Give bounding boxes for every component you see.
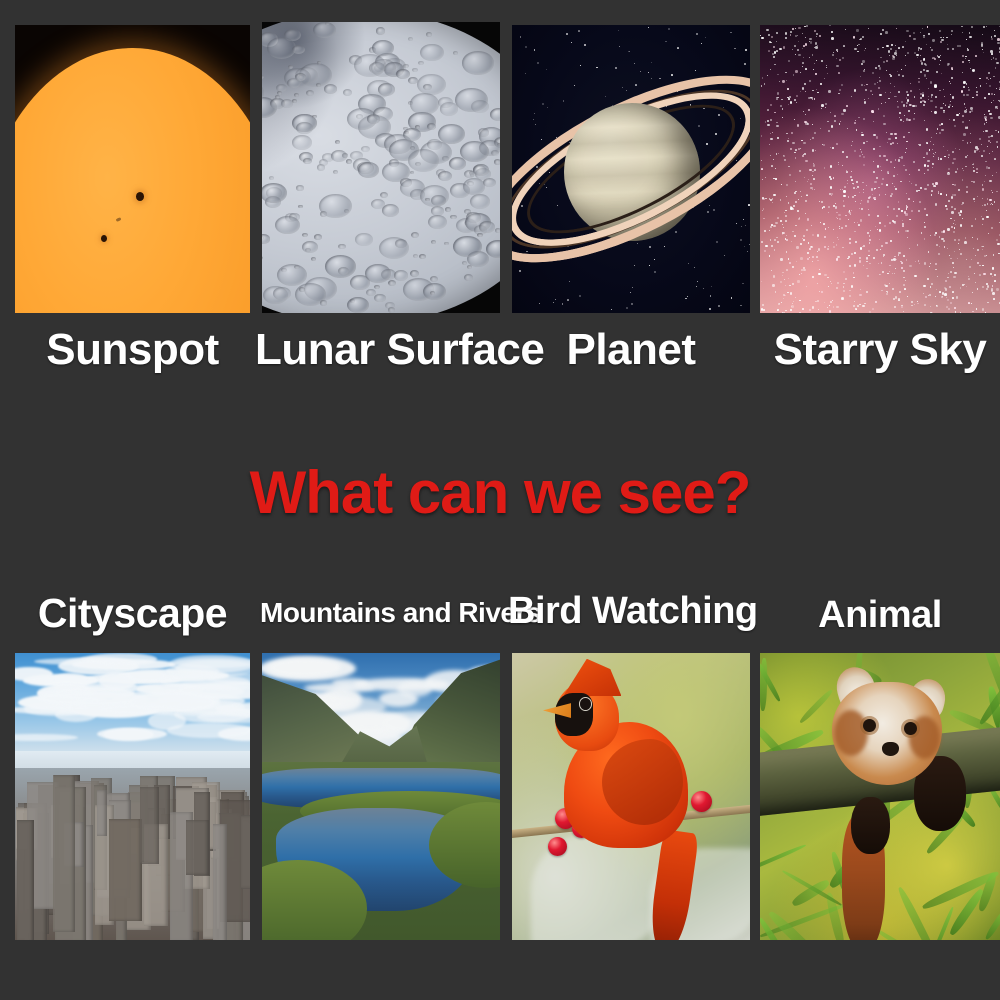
star	[955, 148, 956, 149]
star	[814, 30, 815, 31]
star	[994, 274, 996, 276]
building	[241, 815, 250, 889]
moon-crater	[388, 307, 396, 313]
star	[877, 215, 879, 217]
star	[806, 25, 808, 27]
star	[782, 275, 783, 276]
star	[982, 188, 984, 190]
star	[920, 187, 922, 189]
star	[783, 294, 785, 296]
star	[812, 137, 814, 139]
star	[851, 253, 853, 255]
star	[809, 38, 811, 40]
star	[975, 55, 977, 57]
star	[986, 255, 987, 256]
star	[934, 111, 936, 113]
star	[907, 296, 908, 297]
star	[855, 120, 856, 121]
star	[938, 193, 939, 194]
star	[875, 67, 877, 69]
star	[898, 201, 900, 203]
star	[935, 182, 937, 184]
star	[994, 158, 996, 160]
moon-crater	[464, 274, 474, 281]
star	[950, 258, 951, 259]
star	[866, 185, 867, 186]
star	[964, 110, 966, 112]
star	[954, 220, 955, 221]
star	[947, 44, 948, 45]
star	[930, 235, 931, 236]
star	[906, 105, 908, 107]
star	[820, 222, 821, 223]
star	[853, 305, 855, 307]
star	[872, 94, 873, 95]
star	[906, 193, 907, 194]
star	[944, 156, 946, 158]
star	[963, 170, 964, 171]
star	[876, 249, 878, 251]
star	[955, 224, 956, 225]
star	[917, 244, 918, 245]
star	[843, 45, 845, 47]
star	[969, 120, 970, 121]
sun-disc	[15, 48, 250, 313]
star	[792, 28, 794, 30]
star	[783, 298, 784, 299]
star	[840, 189, 841, 190]
star	[866, 257, 869, 260]
star	[853, 277, 855, 279]
star	[891, 44, 892, 45]
star	[789, 174, 791, 176]
star	[866, 84, 868, 86]
star	[828, 90, 830, 92]
star	[762, 304, 764, 306]
star	[813, 178, 815, 180]
star	[776, 122, 778, 124]
star	[940, 55, 941, 56]
star	[992, 267, 994, 269]
star	[827, 248, 829, 250]
star	[937, 276, 938, 277]
star	[793, 205, 795, 207]
moon-crater	[473, 164, 489, 176]
star	[918, 169, 920, 171]
star	[913, 201, 914, 202]
star	[828, 130, 830, 132]
star	[868, 250, 870, 252]
star	[934, 58, 936, 60]
star	[930, 141, 931, 142]
star	[931, 96, 932, 97]
star	[800, 257, 803, 260]
star	[991, 102, 992, 103]
moon-crater	[372, 40, 394, 56]
star	[994, 280, 996, 282]
star	[968, 302, 970, 304]
star	[937, 128, 938, 129]
star	[800, 191, 801, 192]
cityscape-scene	[15, 653, 250, 940]
star	[954, 208, 956, 210]
star	[830, 178, 832, 180]
star	[824, 78, 825, 79]
star	[816, 60, 817, 61]
star	[775, 222, 777, 224]
star	[775, 291, 777, 293]
star	[963, 133, 966, 136]
star	[905, 152, 906, 153]
star	[898, 298, 901, 301]
star	[915, 105, 917, 107]
star	[870, 90, 872, 92]
star	[886, 60, 888, 62]
star	[983, 273, 985, 275]
star	[821, 108, 822, 109]
star	[914, 113, 915, 114]
star	[985, 175, 986, 176]
star	[804, 26, 805, 27]
star	[878, 108, 880, 110]
moon-crater	[410, 171, 415, 175]
star	[812, 276, 814, 278]
star	[975, 282, 976, 283]
star	[966, 286, 967, 287]
star	[961, 204, 963, 206]
star	[980, 85, 982, 87]
star	[880, 166, 881, 167]
star	[877, 166, 879, 168]
star	[837, 258, 838, 259]
star	[964, 284, 965, 285]
star	[976, 168, 978, 170]
star	[845, 29, 846, 30]
star	[983, 150, 985, 152]
star	[895, 268, 896, 269]
star	[991, 135, 994, 138]
star	[875, 301, 877, 303]
star	[903, 104, 905, 106]
star	[806, 229, 808, 231]
moon-crater	[262, 234, 270, 243]
star	[794, 152, 796, 154]
star	[805, 160, 807, 162]
moon-crater	[495, 228, 500, 233]
star	[825, 103, 827, 105]
star	[803, 235, 805, 237]
star	[805, 43, 808, 46]
star	[952, 162, 954, 164]
star	[761, 168, 763, 170]
moon-crater	[338, 267, 349, 275]
star	[784, 159, 786, 161]
star	[897, 174, 898, 175]
star	[992, 276, 993, 277]
star	[928, 96, 929, 97]
star	[844, 186, 846, 188]
star	[906, 206, 908, 208]
star	[813, 69, 814, 70]
star	[874, 181, 876, 183]
star	[782, 117, 783, 118]
star	[860, 203, 861, 204]
star	[977, 238, 979, 240]
moon-crater	[314, 234, 322, 240]
star	[924, 63, 926, 65]
star	[948, 200, 950, 202]
star	[887, 142, 888, 143]
star	[890, 240, 892, 242]
star	[807, 252, 808, 253]
star	[788, 138, 789, 139]
star	[853, 184, 854, 185]
star	[856, 29, 858, 31]
star	[761, 85, 762, 86]
star	[901, 101, 903, 103]
star	[962, 72, 963, 73]
star	[814, 132, 816, 134]
star	[777, 217, 779, 219]
star	[994, 35, 996, 37]
star	[859, 257, 861, 259]
star	[792, 49, 793, 50]
star	[771, 165, 773, 167]
star	[817, 45, 818, 46]
star	[901, 262, 903, 264]
star	[866, 141, 867, 142]
star	[792, 231, 793, 232]
star	[838, 93, 840, 95]
moon-crater	[376, 27, 386, 34]
star	[788, 258, 789, 259]
moon-crater	[358, 162, 379, 178]
star	[805, 213, 806, 214]
star	[882, 178, 884, 180]
star	[849, 290, 850, 291]
star	[856, 309, 857, 310]
star	[898, 208, 900, 210]
star	[947, 150, 948, 151]
moon-crater	[430, 276, 438, 282]
star	[958, 243, 959, 244]
star	[995, 130, 996, 131]
star	[790, 101, 792, 103]
star	[879, 155, 880, 156]
star	[994, 201, 995, 202]
star	[922, 28, 923, 29]
star	[788, 166, 789, 167]
star	[786, 133, 787, 134]
star	[972, 311, 973, 312]
star	[776, 125, 779, 128]
star	[847, 183, 848, 184]
star	[878, 187, 879, 188]
star	[870, 230, 871, 231]
star	[793, 74, 794, 75]
star	[866, 261, 868, 263]
star	[982, 249, 983, 250]
star	[905, 65, 906, 66]
star	[993, 100, 994, 101]
star	[857, 305, 859, 307]
star	[930, 263, 931, 264]
star	[816, 256, 818, 258]
star	[954, 194, 956, 196]
star	[805, 200, 807, 202]
star	[932, 39, 934, 41]
star	[886, 285, 888, 287]
star	[798, 199, 799, 200]
star	[864, 50, 865, 51]
star	[961, 26, 963, 28]
star	[927, 278, 929, 280]
star	[952, 96, 954, 98]
star	[784, 232, 786, 234]
star	[928, 88, 929, 89]
star	[968, 87, 970, 89]
lunar-scene	[262, 22, 500, 313]
moon-crater	[324, 84, 337, 94]
star	[809, 309, 811, 311]
star	[833, 177, 835, 179]
star	[843, 271, 845, 273]
star	[773, 159, 774, 160]
star	[894, 223, 895, 224]
moon-crater	[294, 93, 300, 97]
star	[787, 88, 789, 90]
star	[824, 246, 826, 248]
star	[973, 167, 974, 168]
star	[958, 189, 960, 191]
star	[802, 308, 804, 310]
star	[785, 310, 787, 312]
star	[762, 179, 763, 180]
star	[982, 224, 983, 225]
star	[906, 102, 908, 104]
star	[859, 304, 861, 306]
star	[864, 85, 865, 86]
label-mountains-and-rivers: Mountains and Rivers	[260, 597, 505, 629]
star	[945, 205, 946, 206]
star	[962, 179, 963, 180]
star	[939, 30, 941, 32]
star	[889, 265, 891, 267]
star	[815, 73, 816, 74]
star	[935, 152, 936, 153]
star	[920, 32, 921, 33]
star	[788, 104, 789, 105]
star	[938, 191, 940, 193]
star	[876, 177, 878, 179]
star	[868, 98, 869, 99]
star	[761, 135, 762, 136]
star	[809, 57, 810, 58]
star	[943, 103, 944, 104]
star	[786, 251, 788, 253]
star	[982, 49, 983, 50]
star	[830, 147, 832, 149]
moon-crater	[411, 232, 419, 238]
star	[932, 163, 934, 165]
star	[961, 90, 963, 92]
star	[868, 214, 870, 216]
star	[985, 130, 987, 132]
star	[939, 90, 941, 92]
star	[905, 41, 906, 42]
star	[879, 146, 881, 148]
star	[903, 311, 904, 312]
star	[840, 121, 841, 122]
moon-crater	[365, 264, 390, 283]
moon-crater	[277, 264, 307, 286]
star	[991, 38, 993, 40]
star	[982, 286, 984, 288]
star	[837, 282, 838, 283]
star	[966, 39, 967, 40]
star	[828, 246, 829, 247]
star	[968, 278, 970, 280]
star	[790, 31, 792, 33]
moon-crater	[303, 158, 312, 165]
cityscape-photo	[15, 653, 250, 940]
star	[836, 65, 838, 67]
star	[812, 234, 814, 236]
star	[761, 281, 762, 282]
moon-crater	[347, 297, 370, 313]
star	[863, 142, 865, 144]
star	[816, 33, 817, 34]
star	[805, 37, 806, 38]
star	[798, 148, 800, 150]
star	[771, 245, 773, 247]
star	[784, 279, 785, 280]
star	[867, 275, 869, 277]
star	[861, 134, 864, 137]
star	[972, 97, 974, 99]
red-panda-photo	[760, 653, 1000, 940]
star	[949, 286, 951, 288]
building	[53, 775, 75, 932]
starfield	[760, 25, 1000, 313]
star	[792, 142, 794, 144]
moon-crater	[426, 32, 432, 36]
star	[950, 218, 952, 220]
star	[996, 141, 998, 143]
star	[917, 57, 919, 59]
star	[940, 107, 943, 110]
star	[933, 144, 934, 145]
star	[944, 96, 945, 97]
planet-photo	[512, 25, 750, 313]
star	[900, 181, 901, 182]
moon-crater	[302, 241, 318, 253]
star	[774, 239, 776, 241]
star	[969, 62, 970, 63]
star	[881, 183, 883, 185]
star	[795, 191, 797, 193]
star	[853, 36, 855, 38]
star	[951, 206, 953, 208]
star	[976, 94, 978, 96]
star	[895, 137, 897, 139]
star	[931, 111, 932, 112]
star	[923, 104, 925, 106]
star	[808, 179, 810, 181]
moon-crater	[311, 257, 316, 261]
star	[985, 312, 986, 313]
star	[864, 101, 866, 103]
